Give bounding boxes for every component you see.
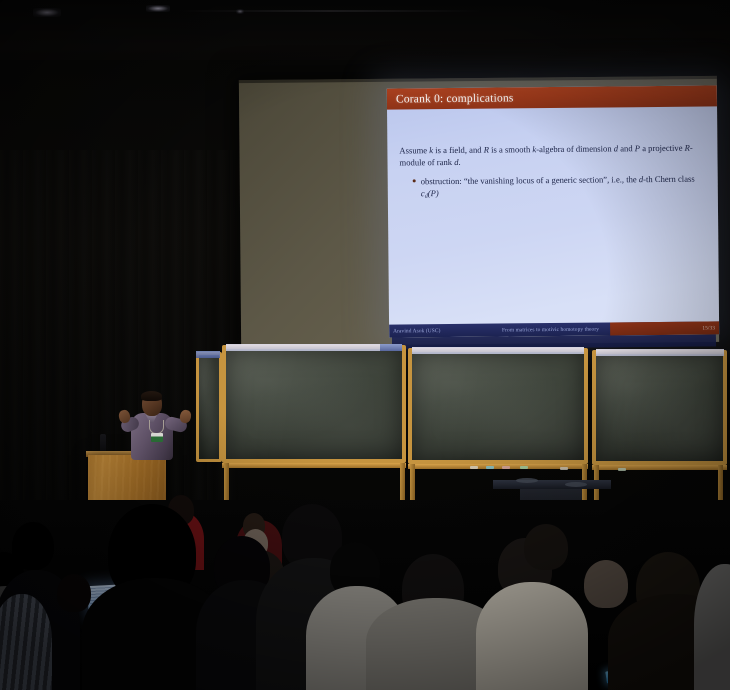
projected-slide: Corank 0: complications Assume k is a fi… (387, 85, 719, 337)
presenter-lanyard (149, 420, 164, 434)
board-1-leg-left (224, 463, 229, 503)
chalk-rail-1 (222, 463, 406, 468)
av-disc-1 (516, 478, 538, 483)
slide-body: Assume k is a field, and R is a smooth k… (387, 106, 719, 324)
chalk-white-2 (560, 467, 568, 470)
ceiling-light-2 (146, 5, 170, 12)
board-0-blue-highlight (196, 351, 220, 358)
slide-text-run: is a smooth (489, 144, 533, 154)
slide-text-run: is a field, and (433, 145, 484, 155)
chalkboard-3 (592, 350, 727, 465)
slide-text-run: and (618, 143, 635, 153)
presenter-hair (141, 391, 162, 401)
board-1-top-highlight (226, 344, 402, 351)
slide-text-run: a projective (640, 143, 685, 153)
board-3-top-highlight (596, 349, 724, 356)
ceiling-light-3 (236, 9, 244, 14)
chalk-blue (486, 466, 494, 469)
chalk-white (470, 466, 478, 469)
lecture-hall-scene: Corank 0: complications Assume k is a fi… (0, 0, 730, 690)
footer-author: Aravind Asok (USC) (389, 327, 498, 334)
slide-paragraph: Assume k is a field, and R is a smooth k… (399, 142, 703, 170)
chalk-rail-3 (592, 465, 727, 470)
bullet-text-run: obstruction: “the vanishing locus of a g… (421, 174, 639, 186)
board-1-blue-highlight (380, 344, 402, 351)
ceiling-beam (180, 10, 480, 12)
footer-short-title: From matrices to motivic homotopy theory (498, 326, 610, 333)
slide-text-run: Assume (399, 145, 429, 155)
slide-bullet-list: obstruction: “the vanishing locus of a g… (400, 172, 704, 202)
board-3-leg-right (718, 465, 723, 505)
footer-right-block: 15/33 (610, 321, 719, 335)
chalkboard-1 (222, 345, 406, 463)
footer-page-number: 15/33 (702, 325, 719, 331)
chalk-green-2 (618, 468, 626, 471)
chalkboard-2 (408, 348, 588, 464)
bullet-text-run: -th Chern class (643, 174, 695, 184)
chalk-green (520, 466, 528, 469)
slide-bullet-item: obstruction: “the vanishing locus of a g… (413, 172, 704, 202)
slide-text-run: . (458, 157, 460, 167)
av-equipment-table (493, 480, 611, 489)
slide-title: Corank 0: complications (387, 92, 514, 105)
stage-floor-dark (0, 500, 730, 690)
ceiling-light-1 (33, 8, 61, 17)
av-disc-2 (565, 482, 587, 487)
chalk-red (502, 466, 510, 469)
conference-name-badge (151, 433, 163, 442)
board-2-top-highlight (412, 347, 584, 354)
slide-text-run: -algebra of dimension (536, 143, 614, 154)
presenter (118, 392, 204, 460)
math-paren-P: (P) (428, 188, 439, 198)
presenter-right-hand (179, 409, 192, 424)
